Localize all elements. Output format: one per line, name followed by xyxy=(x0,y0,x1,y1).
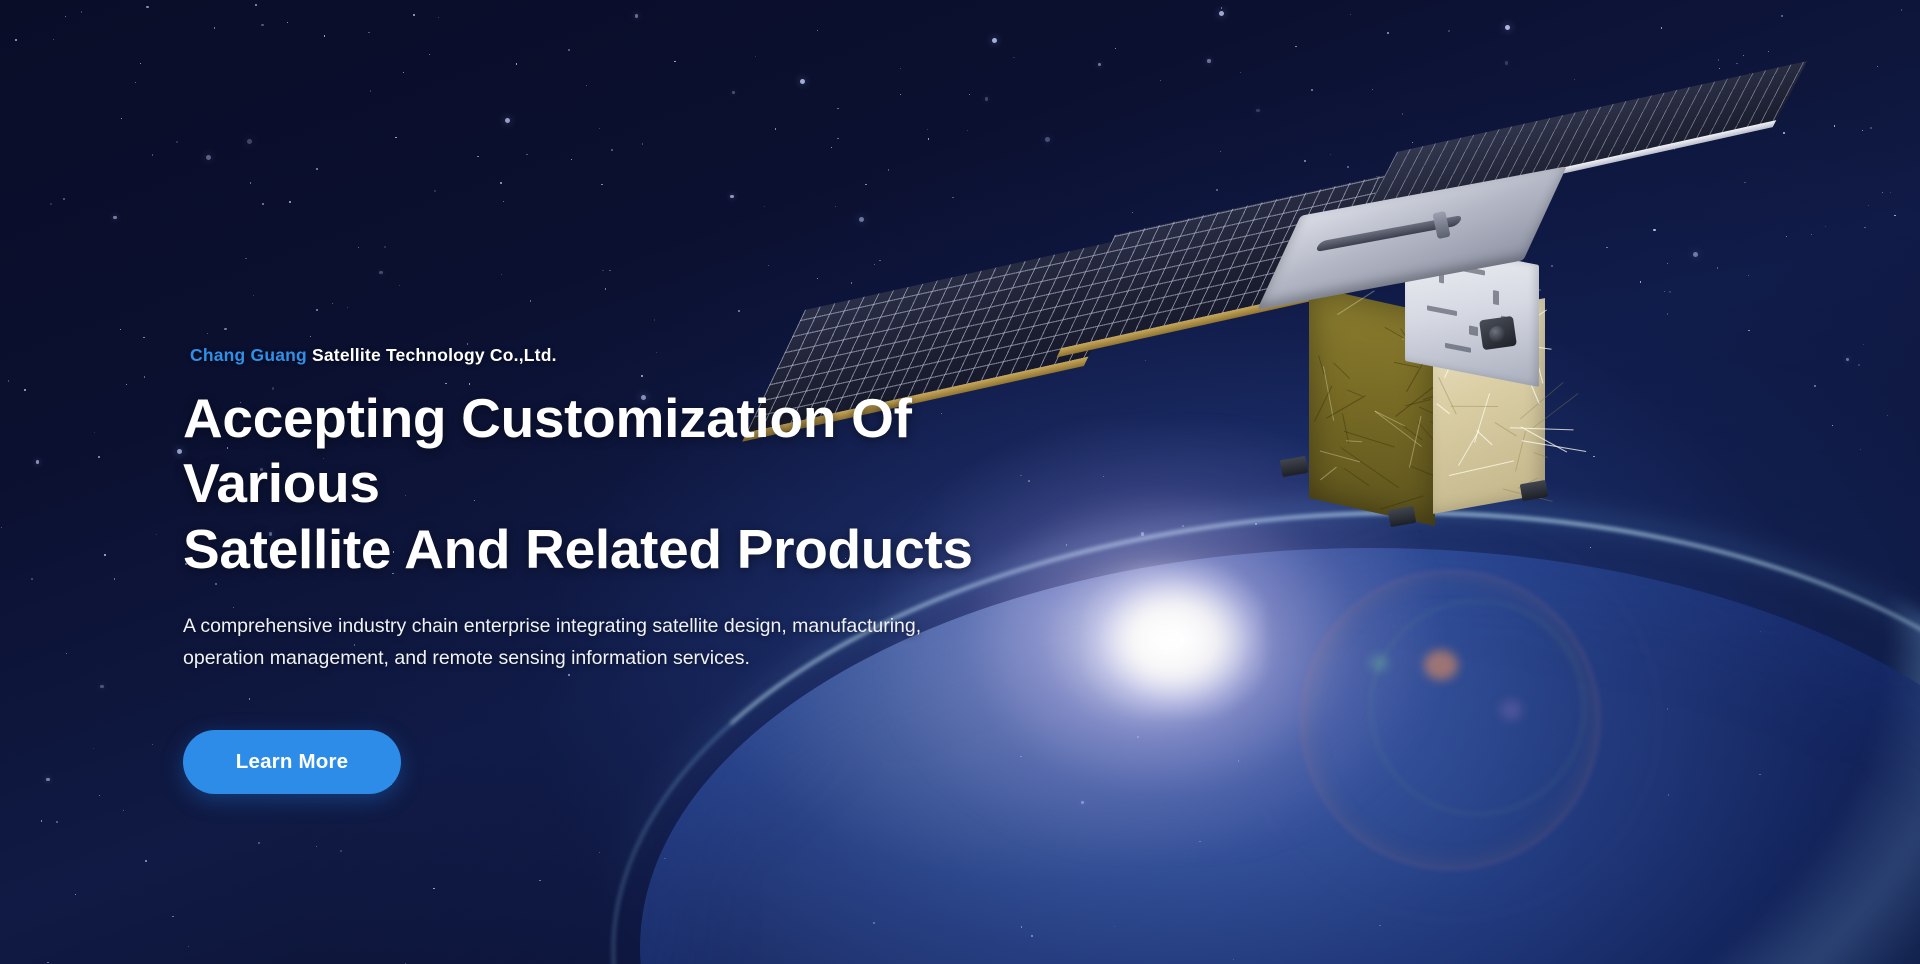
learn-more-button[interactable]: Learn More xyxy=(183,730,401,794)
subcopy-line-1: A comprehensive industry chain enterpris… xyxy=(183,615,921,637)
company-name-rest: Satellite Technology Co.,Ltd. xyxy=(307,345,557,365)
hero-headline: Accepting Customization Of Various Satel… xyxy=(183,386,1003,582)
hero-subcopy: A comprehensive industry chain enterpris… xyxy=(183,611,1043,675)
hero-content: Chang Guang Satellite Technology Co.,Ltd… xyxy=(183,345,1083,794)
headline-line-1: Accepting Customization Of Various xyxy=(183,387,912,514)
bus-mount-bracket xyxy=(1388,506,1417,527)
lens-flare-dot-orange xyxy=(1424,650,1458,680)
company-name-eyebrow: Chang Guang Satellite Technology Co.,Ltd… xyxy=(190,345,1083,366)
company-name-highlight: Chang Guang xyxy=(190,345,307,365)
lens-flare-dot-violet xyxy=(1500,700,1522,720)
satellite-illustration xyxy=(985,130,1815,560)
bus-mount-bracket xyxy=(1280,456,1309,477)
subcopy-line-2: operation management, and remote sensing… xyxy=(183,647,750,669)
lens-flare-dot-green xyxy=(1370,655,1388,671)
satellite-bus xyxy=(1285,190,1545,500)
camera-lens xyxy=(1489,326,1506,343)
sun-core xyxy=(1085,565,1265,715)
headline-line-2: Satellite And Related Products xyxy=(183,518,973,580)
hero-banner: Chang Guang Satellite Technology Co.,Ltd… xyxy=(0,0,1920,964)
